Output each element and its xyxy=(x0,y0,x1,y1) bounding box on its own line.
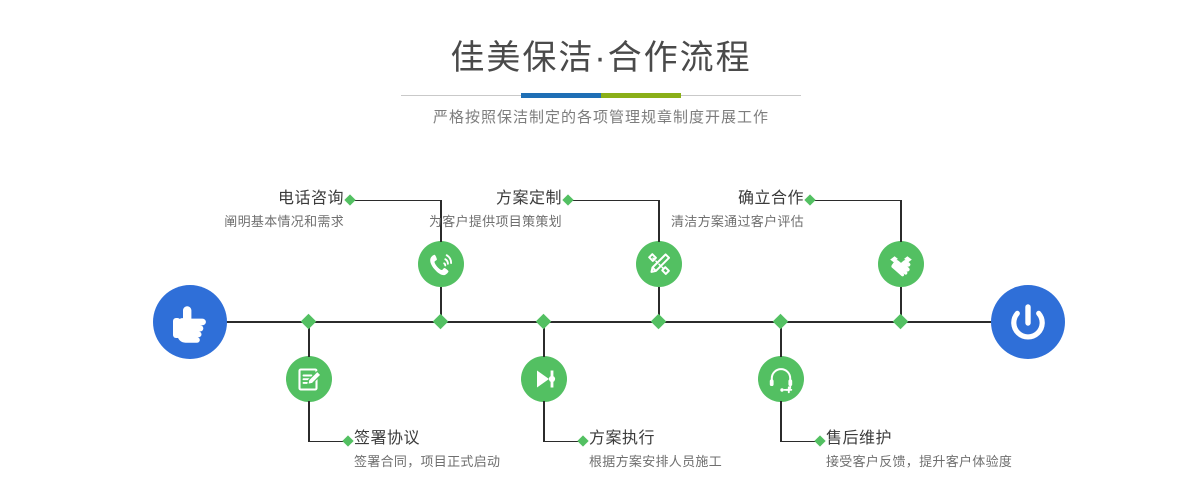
divider-segment-blue xyxy=(521,93,601,98)
connector-vline-5 xyxy=(900,200,902,242)
step-label-4: 方案执行 根据方案安排人员施工 xyxy=(589,428,849,472)
step-label-6: 售后维护 接受客户反馈，提升客户体验度 xyxy=(826,428,1126,472)
axis-diamond-1 xyxy=(433,314,449,330)
step-title-4: 方案执行 xyxy=(589,428,849,450)
step-node-4[interactable] xyxy=(521,356,567,402)
play-forward-icon xyxy=(521,356,567,402)
customer-service-add-icon xyxy=(758,356,804,402)
step-label-2: 签署协议 签署合同，项目正式启动 xyxy=(354,428,614,472)
handshake-icon xyxy=(878,241,924,287)
power-icon xyxy=(991,285,1065,359)
axis-diamond-6 xyxy=(773,314,789,330)
step-title-1: 电话咨询 xyxy=(104,188,344,210)
axis-diamond-5 xyxy=(893,314,909,330)
step-label-1: 电话咨询 阐明基本情况和需求 xyxy=(104,188,344,232)
step-title-6: 售后维护 xyxy=(826,428,1126,450)
divider-segment-green xyxy=(601,93,681,98)
connector-vline-2b xyxy=(308,401,310,441)
page-title: 佳美保洁·合作流程 xyxy=(0,36,1202,80)
connector-vline-6b xyxy=(780,401,782,441)
step-desc-4: 根据方案安排人员施工 xyxy=(589,452,849,472)
start-endpoint xyxy=(153,285,227,359)
connector-hline-5 xyxy=(811,200,901,201)
phone-call-icon xyxy=(418,241,464,287)
step-node-2[interactable] xyxy=(286,356,332,402)
step-desc-5: 清洁方案通过客户评估 xyxy=(564,212,804,232)
connector-vline-4b xyxy=(543,401,545,441)
step-label-3: 方案定制 为客户提供项目策策划 xyxy=(322,188,562,232)
axis-diamond-3 xyxy=(651,314,667,330)
connector-diamond-5 xyxy=(804,194,815,205)
process-flow-infographic: 佳美保洁·合作流程 严格按照保洁制定的各项管理规章制度开展工作 xyxy=(0,0,1202,502)
step-title-5: 确立合作 xyxy=(564,188,804,210)
axis-diamond-4 xyxy=(536,314,552,330)
title-divider xyxy=(401,93,801,99)
step-desc-1: 阐明基本情况和需求 xyxy=(104,212,344,232)
step-desc-2: 签署合同，项目正式启动 xyxy=(354,452,614,472)
document-sign-icon xyxy=(286,356,332,402)
step-node-6[interactable] xyxy=(758,356,804,402)
end-endpoint xyxy=(991,285,1065,359)
step-desc-6: 接受客户反馈，提升客户体验度 xyxy=(826,452,1126,472)
step-label-5: 确立合作 清洁方案通过客户评估 xyxy=(564,188,804,232)
step-title-2: 签署协议 xyxy=(354,428,614,450)
step-title-3: 方案定制 xyxy=(322,188,562,210)
page-subtitle: 严格按照保洁制定的各项管理规章制度开展工作 xyxy=(0,106,1202,127)
pencil-ruler-icon xyxy=(636,241,682,287)
step-desc-3: 为客户提供项目策策划 xyxy=(322,212,562,232)
step-node-3[interactable] xyxy=(636,241,682,287)
pointing-hand-icon xyxy=(153,285,227,359)
step-node-1[interactable] xyxy=(418,241,464,287)
connector-diamond-2 xyxy=(342,435,353,446)
axis-diamond-2 xyxy=(301,314,317,330)
header: 佳美保洁·合作流程 严格按照保洁制定的各项管理规章制度开展工作 xyxy=(0,0,1202,140)
step-node-5[interactable] xyxy=(878,241,924,287)
